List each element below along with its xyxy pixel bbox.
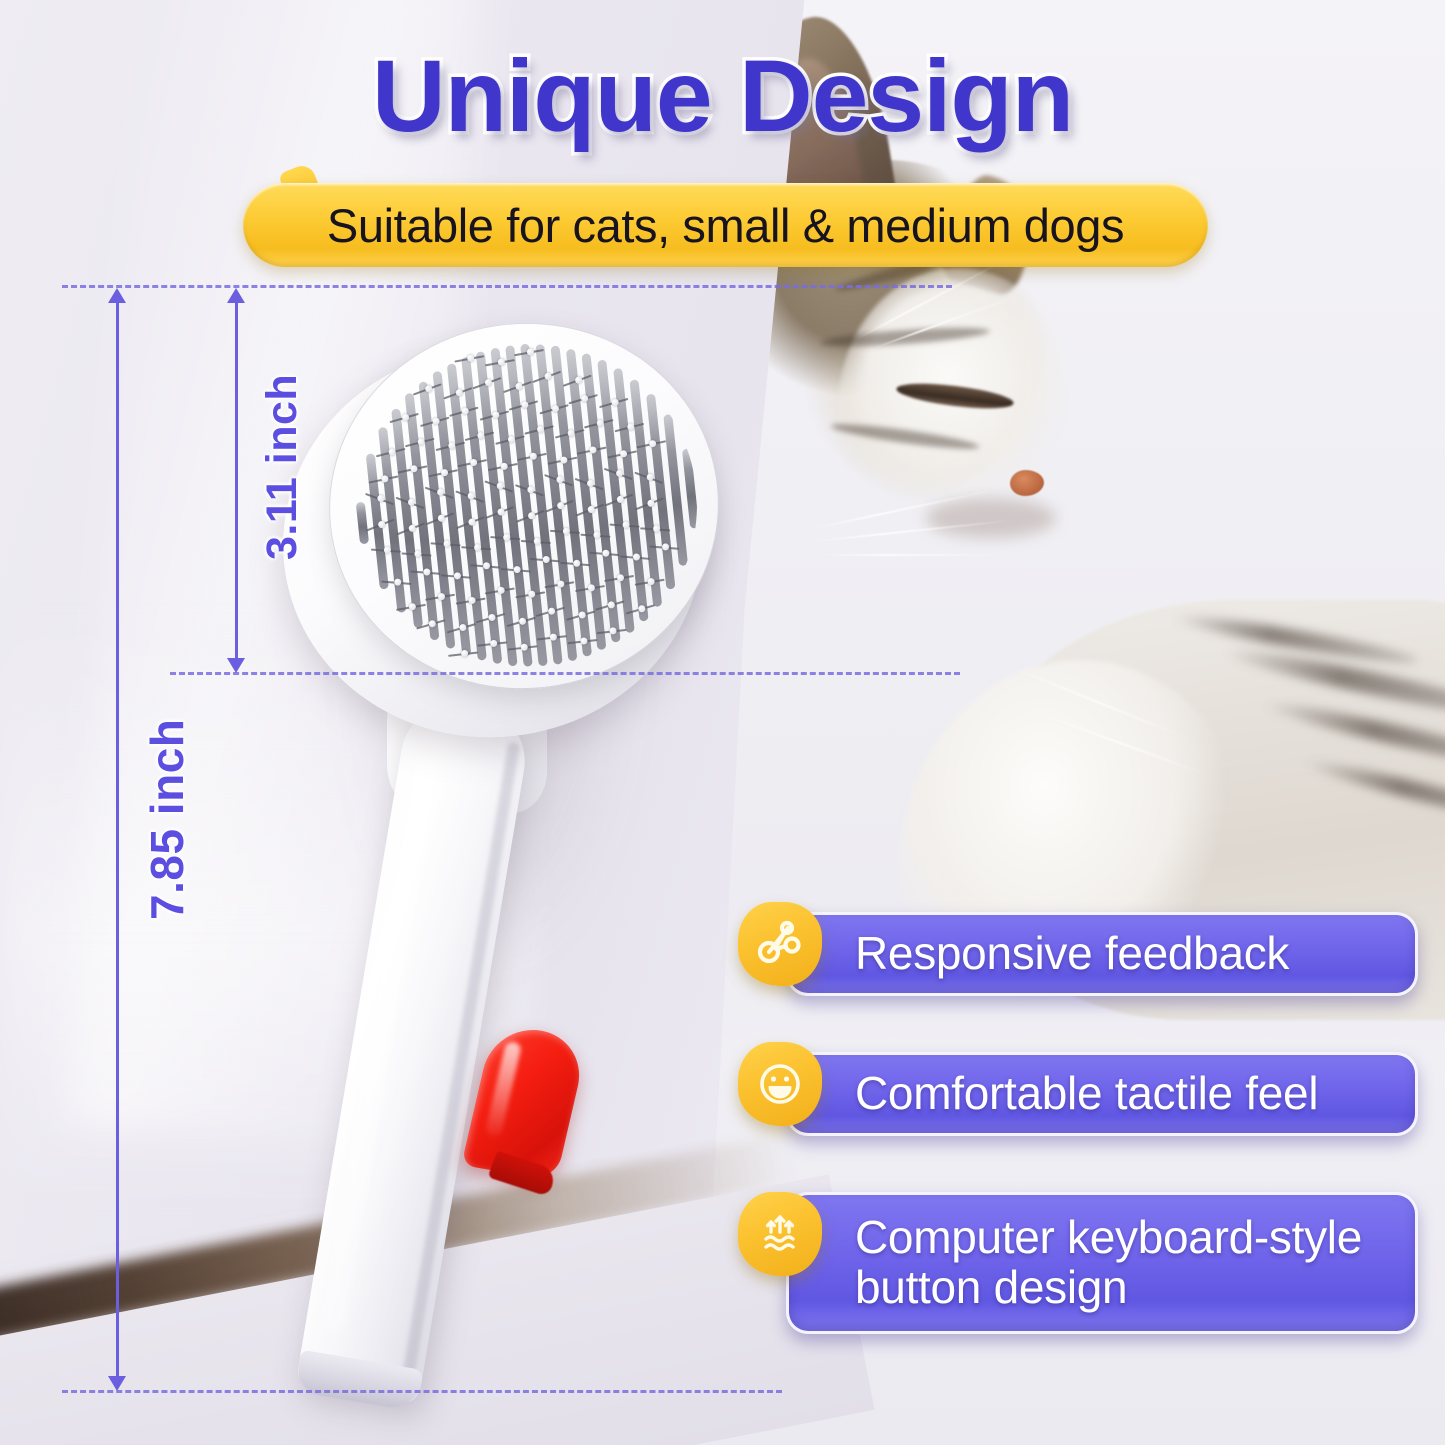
dimension-line-bottom (62, 1390, 782, 1393)
bristle-pin-tip (619, 450, 627, 458)
bristle-pin-tip (560, 456, 568, 464)
feature-bar: Responsive feedback (786, 912, 1418, 996)
bristle-row (356, 501, 369, 544)
bristle-pin-tip (529, 452, 537, 460)
bristle-pin-tip (443, 540, 451, 548)
bristle-pin-tip (502, 534, 510, 542)
bristle-pin-tip (473, 544, 481, 552)
bristle-pin-tip (378, 521, 386, 529)
bristle-pin-tip (648, 440, 656, 448)
bristle-pin-tip (468, 518, 476, 526)
feature-label: Comfortable tactile feel (789, 1069, 1340, 1119)
arrow-down-icon (227, 658, 245, 673)
dimension-label-head: 3.11 inch (258, 374, 307, 560)
dimension-bar-total (116, 292, 119, 1386)
brush-bristles (334, 320, 713, 692)
feature-comfortable-tactile-feel[interactable]: Comfortable tactile feel (738, 1038, 1412, 1130)
bristle-pin-tip (622, 521, 630, 529)
feature-keyboard-style-button[interactable]: Computer keyboard-style button design (738, 1178, 1412, 1328)
dimension-label-total: 7.85 inch (140, 719, 194, 920)
share-nodes-icon (738, 902, 822, 986)
arrow-down-icon (108, 1376, 126, 1391)
bristle-pin-tip (469, 459, 477, 467)
feature-label: Responsive feedback (789, 929, 1311, 979)
feature-bar: Computer keyboard-style button design (786, 1192, 1418, 1334)
cat-chest-fur (900, 660, 1260, 1080)
bristle-pin-tip (575, 376, 583, 384)
bristle-pin-tip (461, 650, 469, 658)
feature-bar: Comfortable tactile feel (786, 1052, 1418, 1136)
bristle-pin-tip (408, 524, 416, 532)
dimension-bar-head (235, 292, 238, 664)
feature-responsive-feedback[interactable]: Responsive feedback (738, 898, 1412, 990)
arrow-up-icon (227, 288, 245, 303)
cat-whisker (818, 554, 1008, 556)
bristle-pin-tip (562, 527, 570, 535)
bristle-pin-tip (425, 385, 433, 393)
bristle-pin-tip (414, 550, 422, 558)
bristle-pin-tip (589, 446, 597, 454)
bristle-pin-tip (440, 469, 448, 477)
cat-nose (1010, 470, 1044, 496)
product-infographic: 3.11 inch 7.85 inch Unique Design Suitab… (0, 0, 1445, 1445)
bristle-pin-tip (410, 465, 418, 473)
dimension-line-top (62, 285, 952, 288)
bristle-pin-tip (526, 348, 534, 356)
bristle-pin-tip (515, 383, 523, 391)
bristle-pin-tip (467, 354, 475, 362)
bristle-pin-tip (528, 512, 536, 520)
arrow-up-icon (108, 288, 126, 303)
page-title: Unique Design (0, 38, 1445, 155)
bristle-pin-tip (383, 546, 391, 554)
bristle-pin-tip (593, 531, 601, 539)
cat-muzzle-shadow (926, 498, 1056, 538)
subtitle-text: Suitable for cats, small & medium dogs (327, 198, 1124, 253)
dimension-line-middle (170, 672, 960, 675)
bristle-pin-tip (497, 358, 505, 366)
bristle-pin-tip (497, 508, 505, 516)
button-gloss (485, 1041, 522, 1137)
bristle-pin-tip (544, 372, 552, 380)
bristle-pin-tip (485, 379, 493, 387)
smiley-face-icon (738, 1042, 822, 1126)
airflow-waves-icon (738, 1192, 822, 1276)
bristle-pin-tip (647, 499, 655, 507)
bristle-pin-tip (652, 525, 660, 533)
subtitle-banner: Suitable for cats, small & medium dogs (243, 183, 1208, 267)
bristle-pin-tip (587, 506, 595, 514)
banner-body: Suitable for cats, small & medium dogs (243, 183, 1208, 267)
bristle-pin-tip (381, 475, 389, 483)
bristle-pin-tip (557, 502, 565, 510)
bristle-pin-tip (437, 514, 445, 522)
feature-label: Computer keyboard-style button design (789, 1213, 1384, 1312)
bristle-row (682, 449, 699, 529)
bristle-pin-tip (617, 496, 625, 504)
bristle-pin-tip (533, 537, 541, 545)
bristle-pin-tip (456, 389, 464, 397)
pet-brush-product (255, 285, 775, 1395)
